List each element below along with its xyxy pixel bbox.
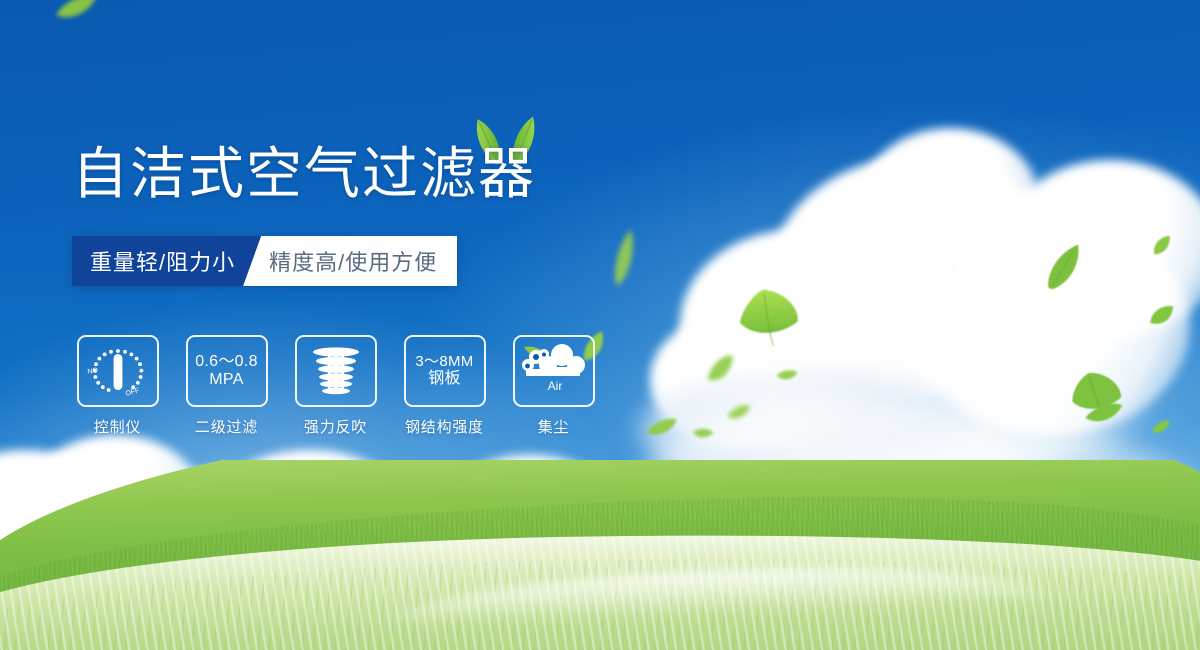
pressure-value-line1: 0.6～0.8 [195,353,258,371]
dial-label-no: NO [87,367,99,375]
pressure-value-line2: MPA [209,371,243,389]
feature-label-controller: 控制仪 [94,416,141,437]
flying-leaf-icon [1149,418,1174,437]
steel-value-line1: 3～8MM [415,354,473,371]
feature-box-backblow [295,335,377,407]
flying-leaf-icon [1039,236,1091,298]
feature-label-steel-strength: 钢结构强度 [405,416,484,437]
feature-item-backblow[interactable]: 强力反吹 [290,335,381,437]
subtitle-left-text: 重量轻/阻力小 [72,236,261,286]
subtitle-right-text: 精度高/使用方便 [243,236,457,286]
grass-landscape [0,460,1200,650]
feature-label-dust-collection: 集尘 [538,416,570,437]
cloud-right-cumulus [650,120,1200,500]
feature-item-dust-collection[interactable]: Air 集尘 [508,335,599,437]
flying-leaf-icon [732,280,807,356]
feature-icon-row: NO OFF 控制仪 0.6～0.8 MPA 二级过滤 [72,335,599,437]
feature-item-steel-strength[interactable]: 3～8MM 钢板 钢结构强度 [399,335,490,437]
feature-label-backblow: 强力反吹 [304,416,367,437]
feature-label-two-stage-filter: 二级过滤 [195,416,258,437]
air-label: Air [547,379,562,393]
feature-box-controller: NO OFF [77,335,159,407]
flying-leaf-icon [725,402,753,421]
flying-leaf-icon [608,226,642,287]
flying-leaf-icon [775,366,799,384]
page-title: 自洁式空气过滤器 [72,146,536,202]
dial-label-off: OFF [124,387,139,398]
feature-box-steel-strength: 3～8MM 钢板 [404,335,486,407]
flying-leaf-icon [700,351,741,388]
flying-leaf-icon [52,0,102,25]
cloud-air-icon: Air [522,343,586,399]
subtitle-banner: 重量轻/阻力小 精度高/使用方便 [72,236,457,286]
flying-leaf-icon [1146,229,1177,262]
filter-cartridge-icon [304,343,368,399]
feature-box-two-stage-filter: 0.6～0.8 MPA [186,335,268,407]
flying-leaf-icon [644,415,681,439]
steel-value-line2: 钢板 [428,370,461,388]
flying-leaf-icon [690,423,715,443]
gauge-dial-icon: NO OFF [87,342,149,400]
flying-leaf-icon [1083,400,1125,426]
feature-item-two-stage-filter[interactable]: 0.6～0.8 MPA 二级过滤 [181,335,272,437]
feature-item-controller[interactable]: NO OFF 控制仪 [72,335,163,437]
flying-leaf-icon [1143,296,1181,334]
feature-box-dust-collection: Air [513,335,595,407]
flying-leaf-icon [1066,364,1129,427]
product-hero-banner: 自洁式空气过滤器 重量轻/阻力小 精度高/使用方便 [0,0,1200,650]
